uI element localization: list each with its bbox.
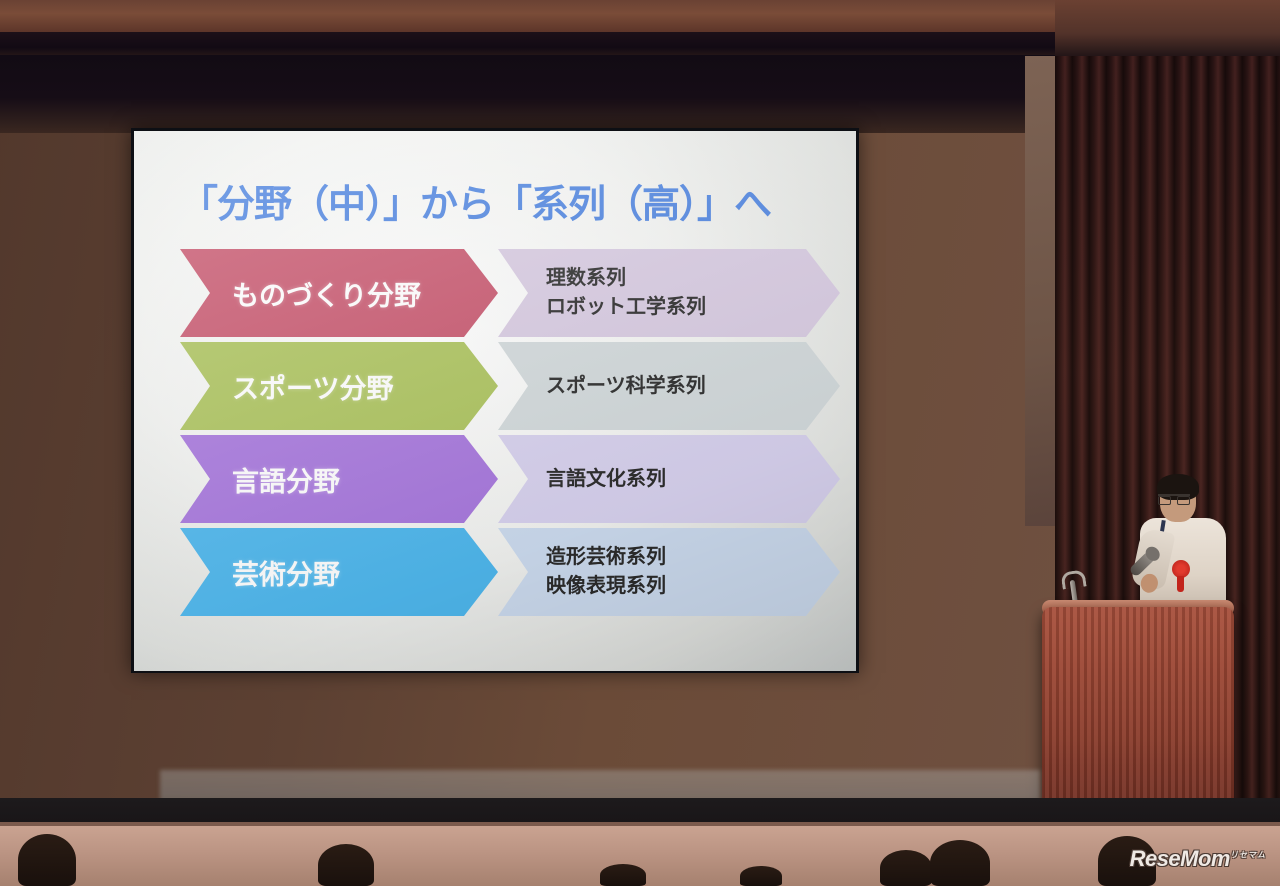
diagram-row: スポーツ分野 スポーツ科学系列 (180, 342, 840, 432)
photo-scene: 「分野（中）」から「系列（高）」へ ものづくり分野 理数系列 ロボット工学系列 … (0, 0, 1280, 886)
series-chevron-gengo: 言語文化系列 (498, 435, 840, 523)
field-chevron-sports: スポーツ分野 (180, 342, 498, 430)
audience-head (18, 834, 76, 886)
glasses-icon (1158, 494, 1190, 503)
diagram-row: ものづくり分野 理数系列 ロボット工学系列 (180, 249, 840, 339)
series-label: 理数系列 ロボット工学系列 (546, 264, 706, 322)
series-line-2: 映像表現系列 (546, 575, 666, 597)
series-label: 造形芸術系列 映像表現系列 (546, 543, 666, 601)
stage-dark-strip (0, 55, 1065, 133)
audience-head (600, 864, 646, 886)
slide-diagram: ものづくり分野 理数系列 ロボット工学系列 スポーツ分野 スポーツ科学系列 (180, 249, 840, 621)
series-chevron-geijutsu: 造形芸術系列 映像表現系列 (498, 528, 840, 616)
series-label: 言語文化系列 (546, 465, 666, 494)
diagram-row: 芸術分野 造形芸術系列 映像表現系列 (180, 528, 840, 618)
audience-head (930, 840, 990, 886)
series-line-2: ロボット工学系列 (546, 296, 706, 318)
audience-head (318, 844, 374, 886)
podium (1042, 607, 1234, 817)
field-label: ものづくり分野 (232, 274, 421, 313)
field-label: 芸術分野 (232, 553, 340, 592)
audience-head (880, 850, 932, 886)
projection-screen: 「分野（中）」から「系列（高）」へ ものづくり分野 理数系列 ロボット工学系列 … (134, 131, 856, 671)
field-chevron-monozukuri: ものづくり分野 (180, 249, 498, 337)
speaker-rosette-badge (1172, 560, 1190, 578)
diagram-row: 言語分野 言語文化系列 (180, 435, 840, 525)
field-label: 言語分野 (232, 460, 340, 499)
series-line-1: 造形芸術系列 (546, 546, 666, 568)
series-chevron-sports: スポーツ科学系列 (498, 342, 840, 430)
watermark-logo: ReseMomリセマム (1130, 846, 1266, 872)
audience-head (740, 866, 782, 886)
watermark-text: ReseMom (1130, 846, 1230, 871)
field-chevron-geijutsu: 芸術分野 (180, 528, 498, 616)
series-label: スポーツ科学系列 (546, 372, 706, 401)
field-chevron-gengo: 言語分野 (180, 435, 498, 523)
curtain-valance (1055, 0, 1280, 60)
field-label: スポーツ分野 (232, 367, 393, 406)
series-chevron-monozukuri: 理数系列 ロボット工学系列 (498, 249, 840, 337)
slide-title: 「分野（中）」から「系列（高）」へ (180, 173, 820, 228)
watermark-tm: リセマム (1230, 851, 1266, 860)
series-line-1: 理数系列 (546, 267, 626, 289)
